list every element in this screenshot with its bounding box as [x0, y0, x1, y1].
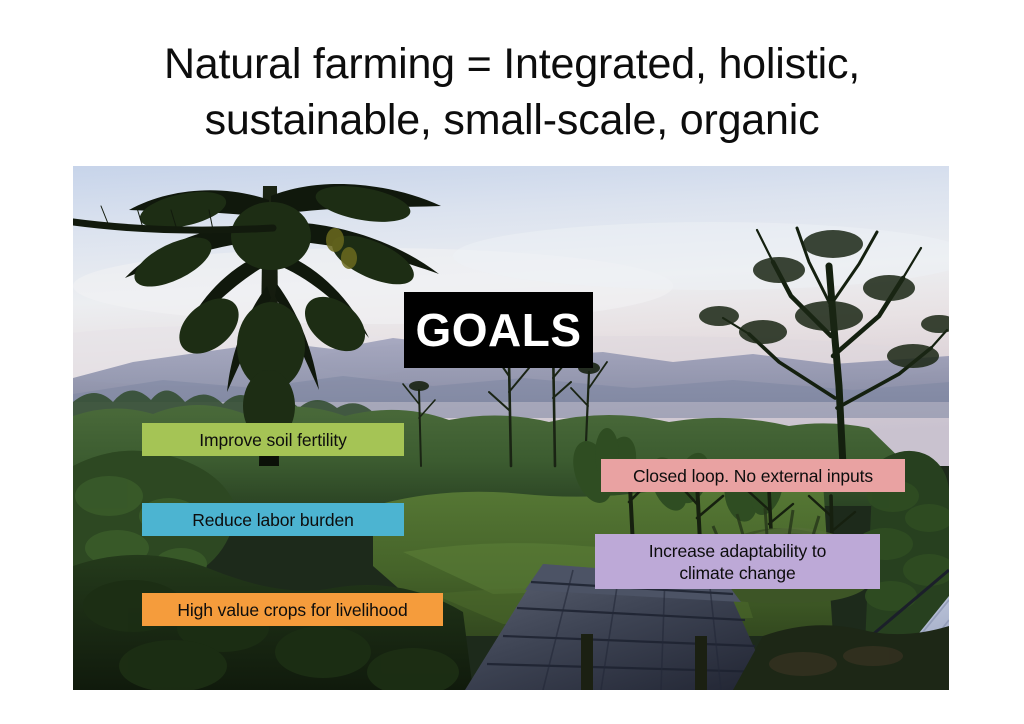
- callout-high-value-crops: High value crops for livelihood: [142, 593, 443, 626]
- page-title: Natural farming = Integrated, holistic, …: [80, 36, 944, 148]
- callout-closed-loop: Closed loop. No external inputs: [601, 459, 905, 492]
- callout-climate-line-1: Increase adaptability to: [649, 541, 827, 561]
- callout-climate-adaptability: Increase adaptability to climate change: [595, 534, 880, 589]
- page-title-line-1: Natural farming = Integrated, holistic,: [80, 36, 944, 92]
- callout-climate-line-2: climate change: [679, 563, 795, 583]
- slide-canvas: Natural farming = Integrated, holistic, …: [0, 0, 1024, 724]
- callout-reduce-labor-burden: Reduce labor burden: [142, 503, 404, 536]
- goals-heading-overlay: GOALS: [404, 292, 593, 368]
- page-title-line-2: sustainable, small-scale, organic: [80, 92, 944, 148]
- callout-improve-soil-fertility: Improve soil fertility: [142, 423, 404, 456]
